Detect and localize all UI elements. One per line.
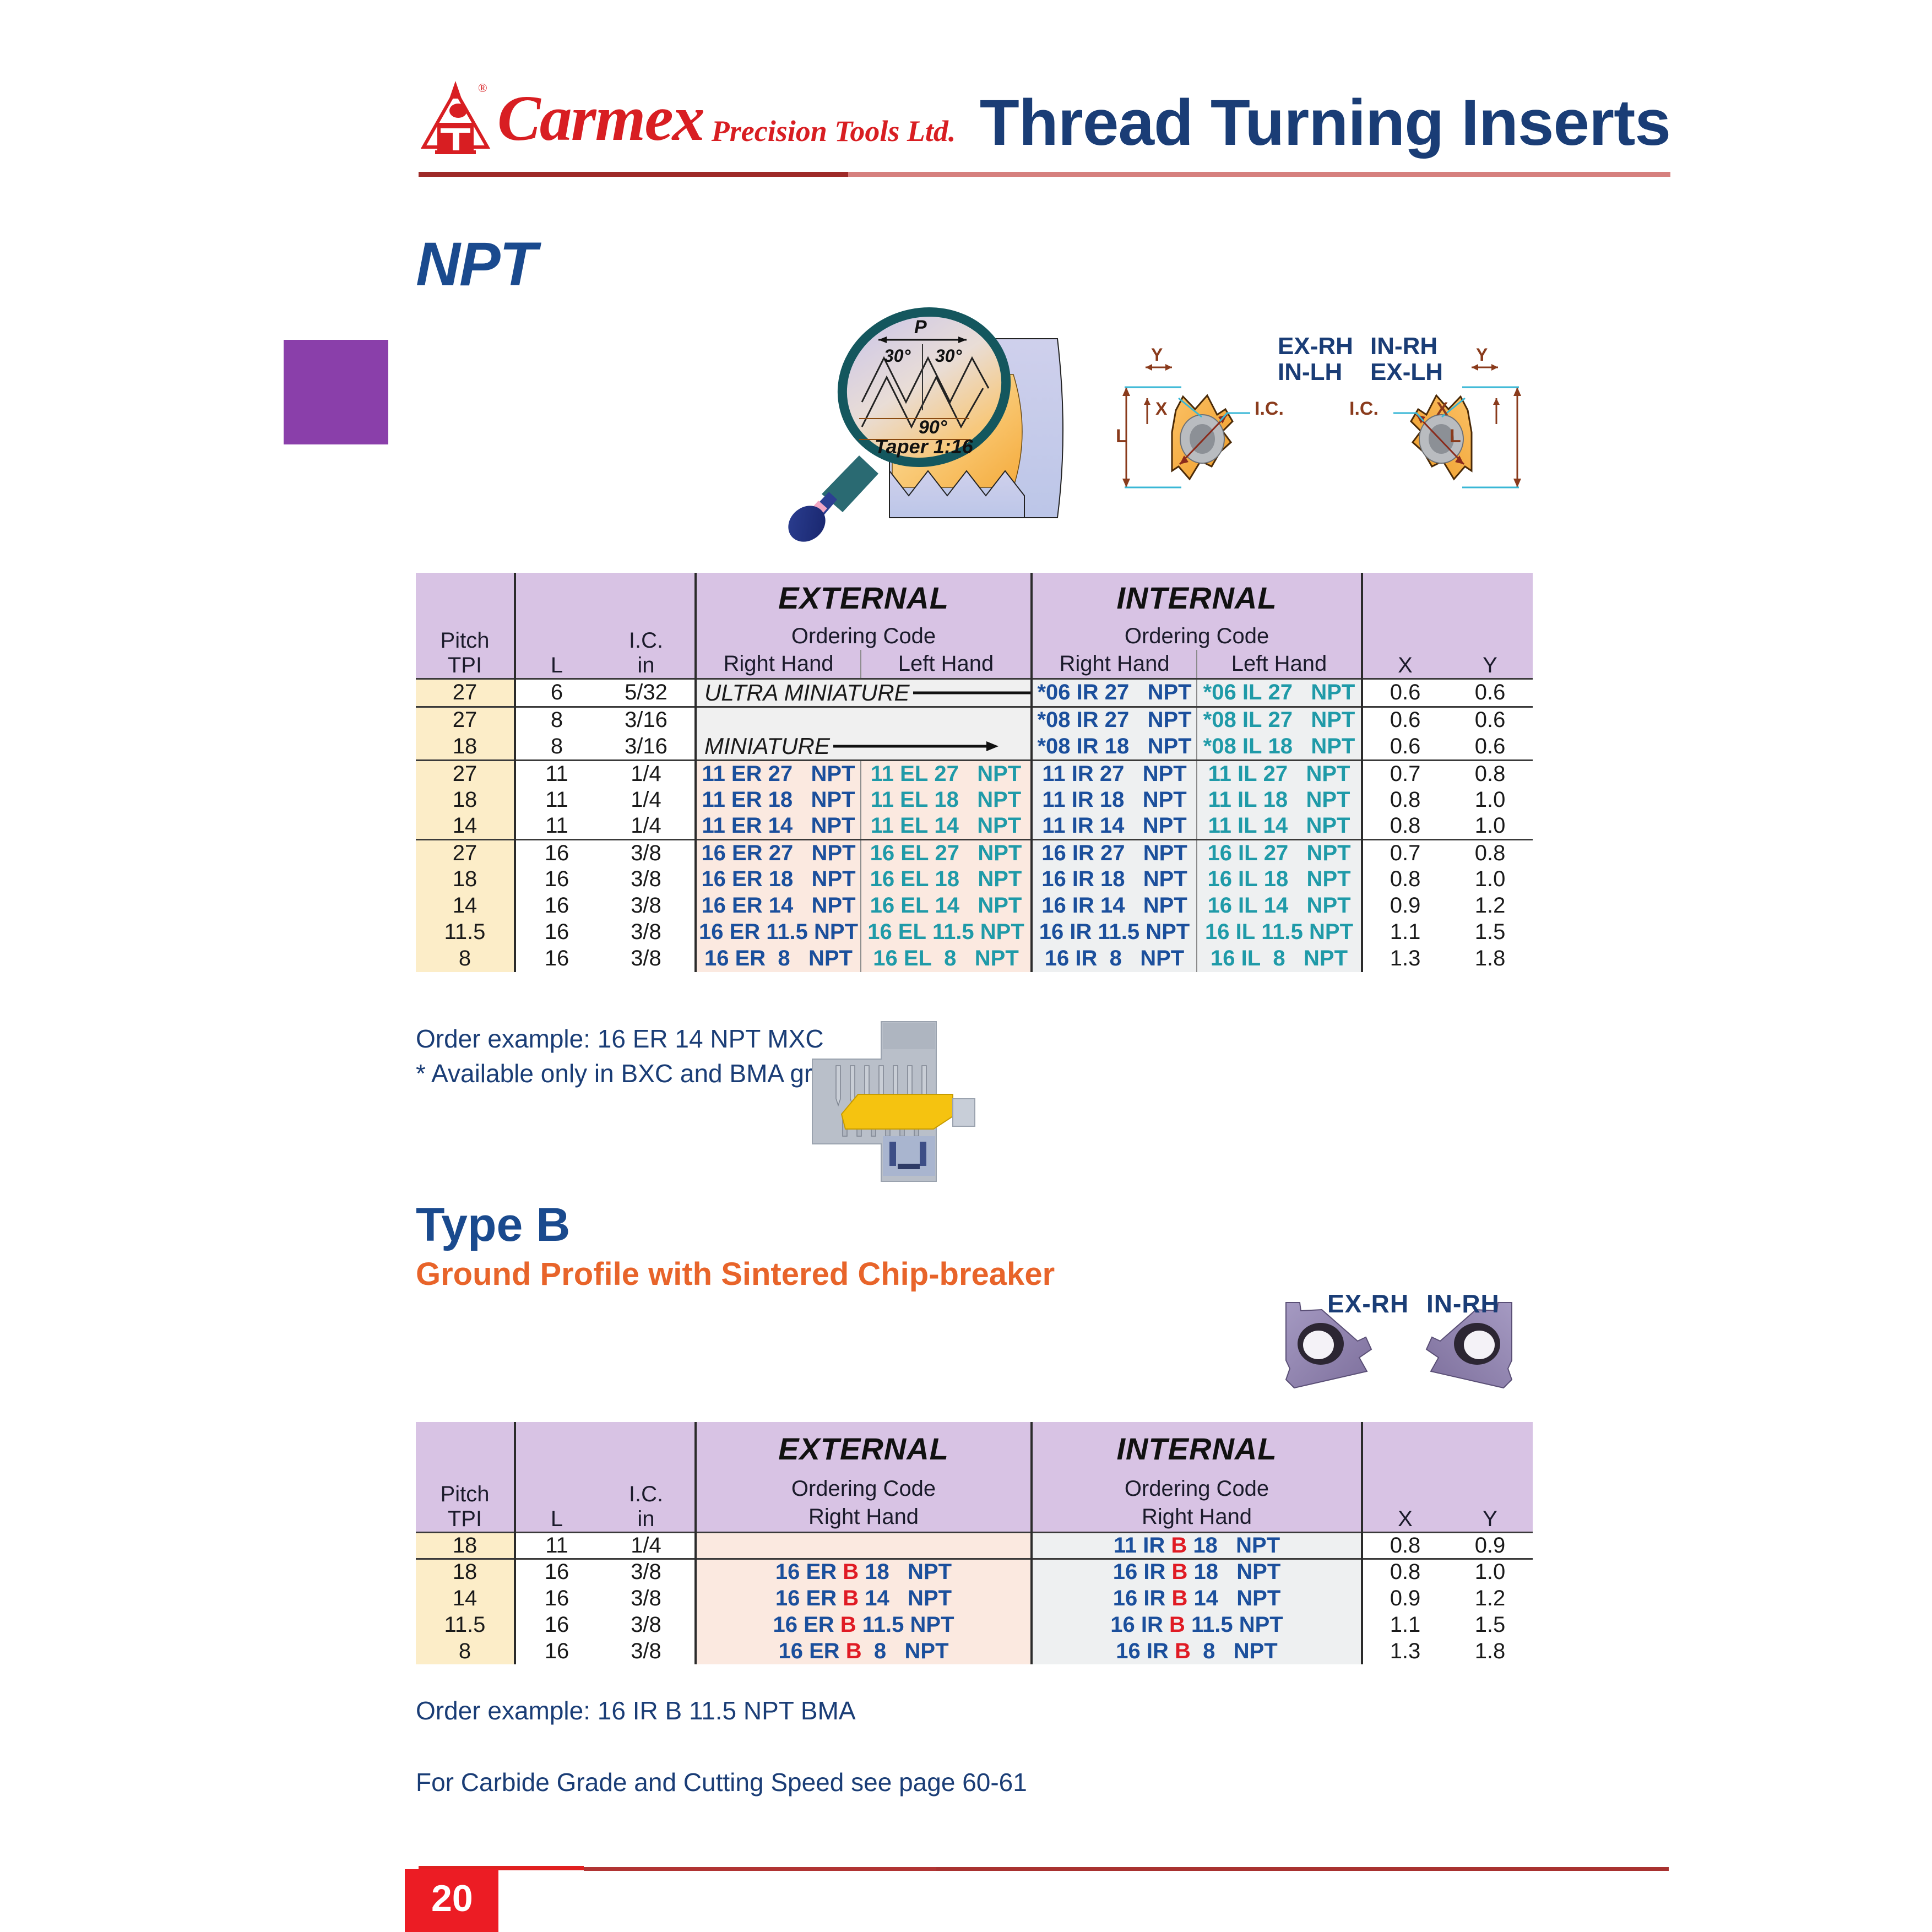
- ordering-code-external-lh: 11 EL 18 NPT: [871, 788, 1021, 812]
- cell-external-left-hand: 16 EL 8 NPT: [861, 946, 1032, 972]
- cell-external-left-hand: 11 EL 18 NPT: [861, 787, 1032, 813]
- cell-x: 0.8: [1362, 787, 1447, 813]
- ordering-code-external-rh: 16 ER B 8 NPT: [779, 1639, 949, 1663]
- section-title-npt: NPT: [416, 229, 536, 300]
- cell-annotation-spacer: [696, 707, 1032, 733]
- cell-internal-left-hand: 11 IL 18 NPT: [1197, 787, 1362, 813]
- table-row: 2783/16*08 IR 27 NPT*08 IL 27 NPT0.60.6: [416, 707, 1533, 733]
- cell-y: 1.0: [1447, 813, 1533, 840]
- cell-ic: 3/8: [598, 1638, 696, 1664]
- cell-l: 11: [515, 1532, 598, 1559]
- ordering-code-internal-lh: 16 IL 14 NPT: [1207, 893, 1350, 918]
- ordering-code-internal-rh: 16 IR 8 NPT: [1045, 946, 1184, 970]
- svg-text:EX-LH: EX-LH: [1370, 359, 1443, 386]
- svg-text:Taper 1:16: Taper 1:16: [875, 435, 974, 458]
- ordering-code-internal-lh: 16 IL 18 NPT: [1207, 867, 1350, 891]
- cell-internal-right-hand: 16 IR 11.5 NPT: [1032, 919, 1197, 946]
- insert-dimension-diagram: L X Y I.C. EX-RH IN-LH IN-RH EX-LH: [1112, 322, 1531, 551]
- cell-internal-right-hand: 11 IR 14 NPT: [1032, 813, 1197, 840]
- footer-rule-mid: [584, 1867, 936, 1871]
- cell-internal-left-hand: 11 IL 27 NPT: [1197, 761, 1362, 787]
- th-x: X: [1362, 573, 1447, 679]
- cell-pitch: 11.5: [416, 919, 515, 946]
- ordering-code-internal-rh: 11 IR 14 NPT: [1042, 813, 1186, 838]
- th-external-right-hand: Right Hand: [696, 650, 861, 679]
- table-row: 11.5163/816 ER B 11.5 NPT16 IR B 11.5 NP…: [416, 1611, 1533, 1638]
- cell-ic: 1/4: [598, 813, 696, 840]
- svg-text:30°: 30°: [884, 346, 911, 366]
- cell-pitch: 18: [416, 1532, 515, 1559]
- cell-internal-left-hand: 16 IL 18 NPT: [1197, 866, 1362, 893]
- cell-y: 1.2: [1447, 893, 1533, 919]
- ordering-code-external-rh: 16 ER 8 NPT: [704, 946, 853, 970]
- table-row: 8163/816 ER 8 NPT16 EL 8 NPT16 IR 8 NPT1…: [416, 946, 1533, 972]
- code-letter-b: B: [1169, 1613, 1185, 1637]
- cell-pitch: 8: [416, 1638, 515, 1664]
- table-row: 14111/411 ER 14 NPT11 EL 14 NPT11 IR 14 …: [416, 813, 1533, 840]
- cell-l: 16: [515, 1559, 598, 1585]
- cell-internal-right-hand: *06 IR 27 NPT: [1032, 679, 1197, 707]
- cell-ic: 3/8: [598, 840, 696, 866]
- cell-internal-right-hand: 11 IR B 18 NPT: [1032, 1532, 1362, 1559]
- cell-external-left-hand: 11 EL 14 NPT: [861, 813, 1032, 840]
- cell-y: 1.5: [1447, 919, 1533, 946]
- cell-x: 0.6: [1362, 707, 1447, 733]
- cell-internal-left-hand: *08 IL 27 NPT: [1197, 707, 1362, 733]
- cell-external-right-hand: 16 ER 11.5 NPT: [696, 919, 861, 946]
- table-row: 18111/411 ER 18 NPT11 EL 18 NPT11 IR 18 …: [416, 787, 1533, 813]
- ordering-code-internal-rh: 16 IR 18 NPT: [1041, 867, 1187, 891]
- code-letter-b: B: [843, 1560, 859, 1584]
- svg-text:X: X: [1436, 399, 1448, 419]
- cell-y: 1.5: [1447, 1611, 1533, 1638]
- ordering-code-internal-lh: *08 IL 27 NPT: [1203, 708, 1355, 732]
- th-internal-ordering-code: Ordering Code: [1032, 622, 1362, 650]
- th-b-external-right-hand: Right Hand: [696, 1502, 1032, 1532]
- cell-internal-right-hand: 16 IR B 14 NPT: [1032, 1585, 1362, 1611]
- cell-l: 11: [515, 761, 598, 787]
- th-b-ic: I.C. in: [598, 1422, 696, 1532]
- ordering-code-external-rh: 16 ER 11.5 NPT: [699, 920, 858, 944]
- table-row: 1883/16MINIATURE*08 IR 18 NPT*08 IL 18 N…: [416, 733, 1533, 761]
- th-ic-unit: in: [598, 653, 694, 678]
- table-row: 2765/32ULTRA MINIATURE*06 IR 27 NPT*06 I…: [416, 679, 1533, 707]
- table-row: 18163/816 ER B 18 NPT16 IR B 18 NPT0.81.…: [416, 1559, 1533, 1585]
- carmex-triangle-icon: ®: [419, 80, 493, 157]
- header-rule-right: [848, 172, 1670, 177]
- cell-x: 0.9: [1362, 893, 1447, 919]
- cell-pitch: 27: [416, 679, 515, 707]
- code-letter-b: B: [1175, 1639, 1191, 1663]
- cell-x: 0.6: [1362, 679, 1447, 707]
- page-number: 20: [431, 1877, 473, 1920]
- cell-y: 0.9: [1447, 1532, 1533, 1559]
- cell-y: 0.6: [1447, 707, 1533, 733]
- cell-pitch: 18: [416, 866, 515, 893]
- cell-l: 11: [515, 787, 598, 813]
- cell-x: 0.8: [1362, 866, 1447, 893]
- cell-x: 0.8: [1362, 1559, 1447, 1585]
- section-subtitle-typeb: Ground Profile with Sintered Chip-breake…: [416, 1256, 1055, 1293]
- cell-internal-left-hand: *06 IL 27 NPT: [1197, 679, 1362, 707]
- ordering-code-external-lh: 16 EL 27 NPT: [870, 841, 1022, 865]
- svg-text:IN-RH: IN-RH: [1370, 333, 1437, 360]
- ordering-code-internal-rh: *08 IR 18 NPT: [1037, 734, 1191, 758]
- cell-internal-right-hand: 11 IR 18 NPT: [1032, 787, 1197, 813]
- typeb-ordering-table: Pitch TPI L I.C. in EXTERNAL INTERNAL X …: [416, 1422, 1533, 1664]
- cell-y: 1.0: [1447, 787, 1533, 813]
- typeb-order-example: Order example: 16 IR B 11.5 NPT BMA: [416, 1694, 856, 1728]
- th-ic-label: I.C.: [598, 628, 694, 653]
- code-letter-b: B: [840, 1613, 856, 1637]
- carbide-grade-reference: For Carbide Grade and Cutting Speed see …: [416, 1765, 1027, 1800]
- cell-l: 8: [515, 707, 598, 733]
- ordering-code-internal-rh: 16 IR B 14 NPT: [1113, 1586, 1281, 1610]
- svg-text:L: L: [1450, 426, 1461, 447]
- svg-text:Y: Y: [1476, 345, 1488, 365]
- carmex-logo: ® Carmex Precision Tools Ltd.: [419, 80, 956, 157]
- cell-internal-right-hand: 11 IR 27 NPT: [1032, 761, 1197, 787]
- table-row: 8163/816 ER B 8 NPT16 IR B 8 NPT1.31.8: [416, 1638, 1533, 1664]
- table-row: 14163/816 ER B 14 NPT16 IR B 14 NPT0.91.…: [416, 1585, 1533, 1611]
- th-b-l: L: [515, 1422, 598, 1532]
- ordering-code-internal-rh: 16 IR 27 NPT: [1041, 841, 1187, 865]
- th-external: EXTERNAL: [696, 573, 1032, 622]
- cell-l: 6: [515, 679, 598, 707]
- th-b-ic-unit: in: [598, 1507, 694, 1532]
- cell-x: 1.3: [1362, 1638, 1447, 1664]
- cell-pitch: 11.5: [416, 1611, 515, 1638]
- ordering-code-internal-lh: 16 IL 8 NPT: [1211, 946, 1348, 970]
- code-letter-b: B: [846, 1639, 862, 1663]
- cell-x: 1.1: [1362, 1611, 1447, 1638]
- cell-internal-right-hand: 16 IR 27 NPT: [1032, 840, 1197, 866]
- ordering-code-internal-rh: 11 IR 18 NPT: [1042, 788, 1186, 812]
- cell-external-left-hand: 16 EL 18 NPT: [861, 866, 1032, 893]
- cell-x: 0.8: [1362, 1532, 1447, 1559]
- cell-external-right-hand: 11 ER 18 NPT: [696, 787, 861, 813]
- ordering-code-external-rh: 11 ER 18 NPT: [702, 788, 855, 812]
- purple-color-swatch: [284, 340, 388, 444]
- cell-internal-left-hand: 16 IL 27 NPT: [1197, 840, 1362, 866]
- cell-external-right-hand: 16 ER 14 NPT: [696, 893, 861, 919]
- table-row: 27111/411 ER 27 NPT11 EL 27 NPT11 IR 27 …: [416, 761, 1533, 787]
- cell-pitch: 27: [416, 761, 515, 787]
- cell-ic: 3/8: [598, 1611, 696, 1638]
- svg-text:Y: Y: [1151, 345, 1163, 365]
- cell-pitch: 18: [416, 1559, 515, 1585]
- cell-x: 0.9: [1362, 1585, 1447, 1611]
- cell-external-right-hand: 16 ER 8 NPT: [696, 946, 861, 972]
- ordering-code-internal-rh: 16 IR 11.5 NPT: [1039, 920, 1190, 944]
- th-b-internal-ordering-code: Ordering Code: [1032, 1475, 1362, 1502]
- cell-internal-left-hand: 16 IL 14 NPT: [1197, 893, 1362, 919]
- th-b-x: X: [1362, 1422, 1447, 1532]
- th-b-pitch-label: Pitch: [416, 1482, 514, 1507]
- cell-internal-left-hand: 16 IL 8 NPT: [1197, 946, 1362, 972]
- cell-l: 16: [515, 1585, 598, 1611]
- cell-l: 16: [515, 919, 598, 946]
- cell-internal-right-hand: *08 IR 27 NPT: [1032, 707, 1197, 733]
- cell-ic: 3/16: [598, 707, 696, 733]
- cell-internal-right-hand: 16 IR 18 NPT: [1032, 866, 1197, 893]
- cell-x: 1.3: [1362, 946, 1447, 972]
- thread-profile-magnifier-illustration: P 30° 30° 90° Taper 1:16: [782, 306, 1079, 551]
- cell-internal-right-hand: 16 IR 8 NPT: [1032, 946, 1197, 972]
- cell-pitch: 18: [416, 787, 515, 813]
- th-b-ic-label: I.C.: [598, 1482, 694, 1507]
- cell-ic: 3/8: [598, 919, 696, 946]
- th-external-left-hand: Left Hand: [861, 650, 1032, 679]
- cell-external-right-hand: 16 ER 18 NPT: [696, 866, 861, 893]
- table-row: 14163/816 ER 14 NPT16 EL 14 NPT16 IR 14 …: [416, 893, 1533, 919]
- th-external-ordering-code: Ordering Code: [696, 622, 1032, 650]
- ordering-code-external-rh: 16 ER B 14 NPT: [775, 1586, 952, 1610]
- cell-annotation-miniature: MINIATURE: [696, 733, 1032, 761]
- cell-ic: 1/4: [598, 787, 696, 813]
- ordering-code-internal-rh: 16 IR B 11.5 NPT: [1110, 1613, 1283, 1637]
- ordering-code-internal-rh: 16 IR B 18 NPT: [1113, 1560, 1281, 1584]
- cell-x: 0.7: [1362, 761, 1447, 787]
- cell-external-left-hand: 16 EL 11.5 NPT: [861, 919, 1032, 946]
- page-title: Thread Turning Inserts: [980, 85, 1670, 160]
- npt-order-example: Order example: 16 ER 14 NPT MXC: [416, 1022, 824, 1056]
- cell-y: 0.6: [1447, 679, 1533, 707]
- table-row: 18163/816 ER 18 NPT16 EL 18 NPT16 IR 18 …: [416, 866, 1533, 893]
- th-tpi-label: TPI: [416, 653, 514, 678]
- cell-external-left-hand: 16 EL 14 NPT: [861, 893, 1032, 919]
- cell-pitch: 14: [416, 813, 515, 840]
- ordering-code-external-lh: 16 EL 18 NPT: [870, 867, 1022, 891]
- ordering-code-external-rh: 16 ER 27 NPT: [701, 841, 855, 865]
- ordering-code-external-lh: 16 EL 8 NPT: [873, 946, 1019, 970]
- ordering-code-internal-lh: 11 IL 27 NPT: [1208, 762, 1350, 786]
- ordering-code-internal-lh: 11 IL 18 NPT: [1208, 788, 1350, 812]
- cell-pitch: 14: [416, 893, 515, 919]
- code-letter-b: B: [1171, 1533, 1187, 1557]
- cell-external-right-hand: [696, 1532, 1032, 1559]
- th-b-pitch-tpi: Pitch TPI: [416, 1422, 515, 1532]
- cell-internal-right-hand: *08 IR 18 NPT: [1032, 733, 1197, 761]
- svg-text:I.C.: I.C.: [1255, 398, 1284, 419]
- cell-external-right-hand: 16 ER 27 NPT: [696, 840, 861, 866]
- cell-l: 16: [515, 946, 598, 972]
- th-internal: INTERNAL: [1032, 573, 1362, 622]
- cell-ic: 3/8: [598, 893, 696, 919]
- svg-text:30°: 30°: [935, 346, 962, 366]
- ordering-code-internal-lh: *08 IL 18 NPT: [1203, 734, 1355, 758]
- logo-subtitle: Precision Tools Ltd.: [712, 114, 956, 148]
- ordering-code-internal-rh: 16 IR 14 NPT: [1041, 893, 1187, 918]
- typeb-photo-label-in-rh: IN-RH: [1426, 1289, 1500, 1318]
- footer-rule-right: [936, 1867, 1669, 1871]
- cell-pitch: 27: [416, 707, 515, 733]
- cell-y: 1.2: [1447, 1585, 1533, 1611]
- cell-y: 1.8: [1447, 946, 1533, 972]
- cell-x: 0.8: [1362, 813, 1447, 840]
- th-pitch-label: Pitch: [416, 628, 514, 653]
- cell-internal-right-hand: 16 IR B 11.5 NPT: [1032, 1611, 1362, 1638]
- miniature-label: MINIATURE: [704, 733, 830, 759]
- cell-external-right-hand: 16 ER B 8 NPT: [696, 1638, 1032, 1664]
- cell-annotation-ultra-miniature: ULTRA MINIATURE: [696, 679, 1032, 707]
- header-rule-left: [419, 172, 848, 177]
- ordering-code-external-lh: 16 EL 11.5 NPT: [867, 920, 1024, 944]
- th-b-y: Y: [1447, 1422, 1533, 1532]
- cell-external-left-hand: 11 EL 27 NPT: [861, 761, 1032, 787]
- ordering-code-external-lh: 11 EL 14 NPT: [871, 813, 1021, 838]
- typeb-photo-label-ex-rh: EX-RH: [1327, 1289, 1409, 1318]
- cell-pitch: 14: [416, 1585, 515, 1611]
- ordering-code-external-lh: 16 EL 14 NPT: [870, 893, 1022, 918]
- page-header: ® Carmex Precision Tools Ltd. Thread Tur…: [0, 0, 1932, 182]
- table-row: 27163/816 ER 27 NPT16 EL 27 NPT16 IR 27 …: [416, 840, 1533, 866]
- arrow-right-icon: [913, 687, 1030, 699]
- cell-external-right-hand: 11 ER 14 NPT: [696, 813, 861, 840]
- ordering-code-external-rh: 11 ER 27 NPT: [702, 762, 855, 786]
- ordering-code-internal-lh: 16 IL 11.5 NPT: [1205, 920, 1353, 944]
- th-b-internal: INTERNAL: [1032, 1422, 1362, 1475]
- ordering-code-internal-rh: 16 IR B 8 NPT: [1116, 1639, 1277, 1663]
- arrow-right-icon: [833, 740, 998, 752]
- cell-external-right-hand: 16 ER B 18 NPT: [696, 1559, 1032, 1585]
- cell-ic: 3/8: [598, 866, 696, 893]
- cell-ic: 3/8: [598, 1585, 696, 1611]
- ordering-code-internal-rh: *06 IR 27 NPT: [1037, 680, 1191, 704]
- th-y: Y: [1447, 573, 1533, 679]
- cell-x: 0.7: [1362, 840, 1447, 866]
- cell-internal-right-hand: 16 IR B 18 NPT: [1032, 1559, 1362, 1585]
- cell-l: 16: [515, 866, 598, 893]
- ordering-code-external-rh: 16 ER B 18 NPT: [775, 1560, 952, 1584]
- cell-l: 16: [515, 1611, 598, 1638]
- cell-x: 1.1: [1362, 919, 1447, 946]
- cell-y: 1.8: [1447, 1638, 1533, 1664]
- cell-external-right-hand: 11 ER 27 NPT: [696, 761, 861, 787]
- ordering-code-internal-rh: 11 IR B 18 NPT: [1114, 1533, 1280, 1557]
- cell-pitch: 18: [416, 733, 515, 761]
- svg-text:L: L: [1116, 426, 1127, 447]
- cell-internal-left-hand: 11 IL 14 NPT: [1197, 813, 1362, 840]
- table-row: 11.5163/816 ER 11.5 NPT16 EL 11.5 NPT16 …: [416, 919, 1533, 946]
- ordering-code-internal-rh: *08 IR 27 NPT: [1037, 708, 1191, 732]
- cell-y: 0.8: [1447, 761, 1533, 787]
- cell-y: 0.6: [1447, 733, 1533, 761]
- cell-l: 16: [515, 893, 598, 919]
- cell-ic: 3/8: [598, 1559, 696, 1585]
- cell-l: 8: [515, 733, 598, 761]
- cell-x: 0.6: [1362, 733, 1447, 761]
- cell-ic: 1/4: [598, 761, 696, 787]
- th-internal-right-hand: Right Hand: [1032, 650, 1197, 679]
- table-row: 18111/411 IR B 18 NPT0.80.9: [416, 1532, 1533, 1559]
- ordering-code-internal-rh: 11 IR 27 NPT: [1042, 762, 1186, 786]
- svg-text:X: X: [1155, 399, 1168, 419]
- cell-external-left-hand: 16 EL 27 NPT: [861, 840, 1032, 866]
- code-letter-b: B: [1171, 1560, 1187, 1584]
- cell-y: 0.8: [1447, 840, 1533, 866]
- npt-ordering-table: Pitch TPI L I.C. in EXTERNAL INTERNAL X …: [416, 573, 1533, 972]
- th-b-external-ordering-code: Ordering Code: [696, 1475, 1032, 1502]
- ordering-code-external-lh: 11 EL 27 NPT: [871, 762, 1021, 786]
- cell-internal-left-hand: *08 IL 18 NPT: [1197, 733, 1362, 761]
- th-b-external: EXTERNAL: [696, 1422, 1032, 1475]
- ordering-code-external-rh: 11 ER 14 NPT: [702, 813, 855, 838]
- ordering-code-internal-lh: 16 IL 27 NPT: [1207, 841, 1350, 865]
- svg-text:IN-LH: IN-LH: [1278, 359, 1342, 386]
- cell-pitch: 27: [416, 840, 515, 866]
- svg-text:®: ®: [478, 81, 487, 95]
- cell-ic: 1/4: [598, 1532, 696, 1559]
- th-pitch-tpi: Pitch TPI: [416, 573, 515, 679]
- cell-external-right-hand: 16 ER B 14 NPT: [696, 1585, 1032, 1611]
- ordering-code-external-rh: 16 ER 14 NPT: [701, 893, 855, 918]
- code-letter-b: B: [1171, 1586, 1187, 1610]
- code-letter-b: B: [843, 1586, 859, 1610]
- cell-y: 1.0: [1447, 1559, 1533, 1585]
- cell-internal-right-hand: 16 IR B 8 NPT: [1032, 1638, 1362, 1664]
- th-b-internal-right-hand: Right Hand: [1032, 1502, 1362, 1532]
- threading-tool-illustration: [793, 1016, 1024, 1190]
- logo-wordmark: Carmex: [497, 86, 704, 151]
- ultra-miniature-label: ULTRA MINIATURE: [704, 680, 910, 706]
- cell-ic: 3/8: [598, 946, 696, 972]
- ordering-code-internal-lh: *06 IL 27 NPT: [1203, 680, 1355, 704]
- th-l: L: [515, 573, 598, 679]
- th-b-tpi-label: TPI: [416, 1507, 514, 1532]
- svg-text:EX-RH: EX-RH: [1278, 333, 1353, 360]
- th-ic: I.C. in: [598, 573, 696, 679]
- cell-l: 11: [515, 813, 598, 840]
- cell-internal-left-hand: 16 IL 11.5 NPT: [1197, 919, 1362, 946]
- cell-y: 1.0: [1447, 866, 1533, 893]
- cell-pitch: 8: [416, 946, 515, 972]
- svg-text:I.C.: I.C.: [1349, 398, 1379, 419]
- ordering-code-internal-lh: 11 IL 14 NPT: [1208, 813, 1350, 838]
- ordering-code-external-rh: 16 ER 18 NPT: [701, 867, 855, 891]
- cell-external-right-hand: 16 ER B 11.5 NPT: [696, 1611, 1032, 1638]
- ordering-code-external-rh: 16 ER B 11.5 NPT: [773, 1613, 954, 1637]
- cell-ic: 3/16: [598, 733, 696, 761]
- cell-l: 16: [515, 840, 598, 866]
- cell-internal-right-hand: 16 IR 14 NPT: [1032, 893, 1197, 919]
- th-internal-left-hand: Left Hand: [1197, 650, 1362, 679]
- cell-ic: 5/32: [598, 679, 696, 707]
- svg-text:P: P: [914, 317, 927, 338]
- section-title-typeb: Type B: [416, 1198, 570, 1252]
- cell-l: 16: [515, 1638, 598, 1664]
